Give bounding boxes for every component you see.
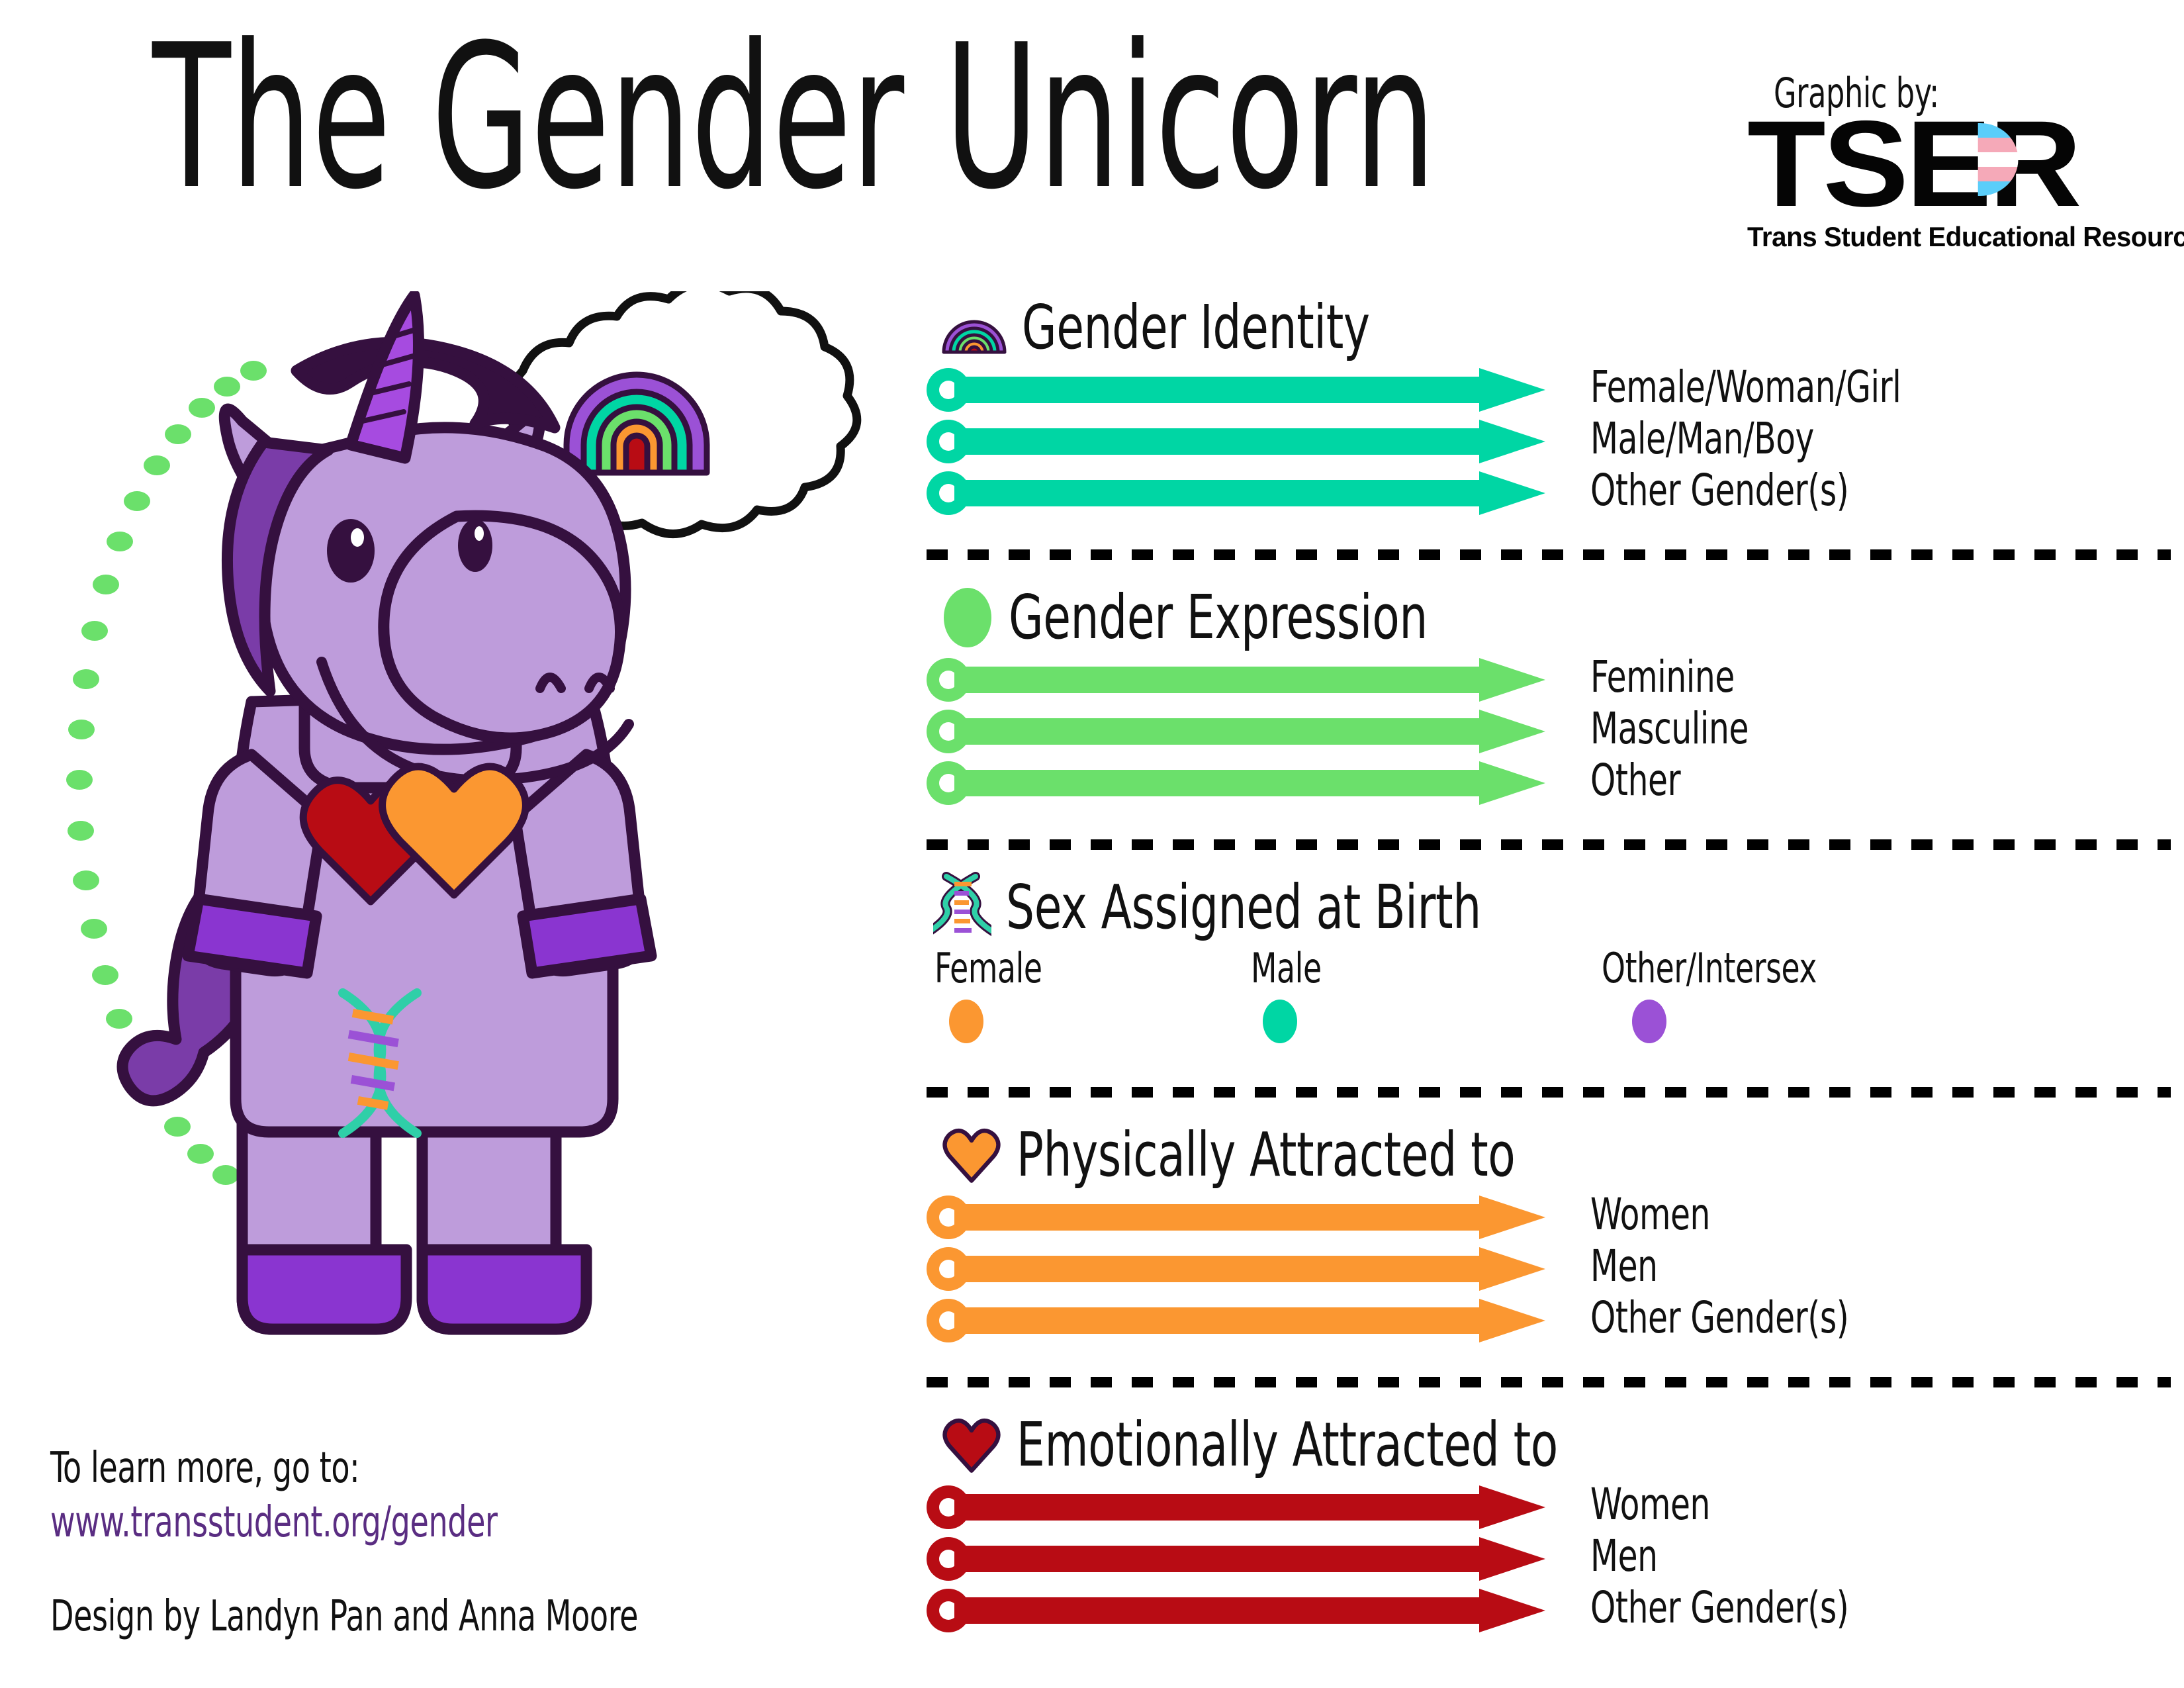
spectrum-arrowhead [1479,1485,1545,1529]
spectrum-row-label: Other Gender(s) [1590,1296,1848,1340]
section-title: Physically Attracted to [1017,1125,1515,1186]
spectrum-shaft [954,428,1479,455]
spectrum-row-label: Women [1590,1193,1710,1237]
spectrum-arrowhead [1479,1537,1545,1581]
tser-full-name: Trans Student Educational Resources [1747,221,2184,253]
sab-option-label: Female [934,948,1042,989]
gender-unicorn-infographic: The Gender Unicorn Graphic by: TSER Tran… [0,0,2184,1688]
spectrum-shaft [954,1494,1479,1521]
spectrum-arrowhead [1479,1299,1545,1342]
spectrum-arrowhead [1479,368,1545,412]
spectrum-arrowhead [1479,1196,1545,1239]
spectrum-row-label: Men [1590,1244,1658,1288]
spectrum-arrowhead [1479,420,1545,463]
dna-icon [933,871,991,944]
spectrum-arrow[interactable]: Other Gender(s) [927,1589,2171,1632]
spectrum-arrow[interactable]: Masculine [927,710,2171,753]
section-title: Gender Expression [1009,587,1428,648]
spectrum-row-label: Feminine [1590,655,1735,699]
spectrum-row-label: Women [1590,1483,1710,1526]
section-header-sex-assigned-at-birth: Sex Assigned at Birth [927,871,1585,944]
rainbow-icon [941,301,1007,355]
spectrum-shaft [954,1307,1479,1334]
sab-option-dot[interactable] [1263,1000,1297,1043]
design-credit: Design by Landyn Pan and Anna Moore [50,1595,638,1638]
section-title: Gender Identity [1022,297,1370,358]
spectrum-arrowhead [1479,761,1545,805]
spectrum-shaft [954,377,1479,403]
spectrum-shaft [954,770,1479,796]
spectrum-shaft [954,1256,1479,1282]
section-divider [927,549,2171,560]
spectrum-arrowhead [1479,710,1545,753]
gender-unicorn-character [86,291,867,1364]
spectrum-shaft [954,667,1479,693]
spectrum-arrow[interactable]: Women [927,1485,2171,1529]
section-header-physically-attracted-to: Physically Attracted to [927,1119,1625,1192]
spectrum-shaft [954,1204,1479,1231]
sab-option[interactable]: Other/Intersex [1602,948,1864,989]
spectrum-shaft [954,1546,1479,1572]
spectrum-shaft [954,718,1479,745]
transstudent-link[interactable]: www.transstudent.org/gender [50,1501,498,1544]
spectrum-shaft [954,1597,1479,1624]
tser-abbreviation: TSER [1747,111,2184,217]
tser-logo: TSER Trans Student Educational Resources [1747,111,2184,253]
spectrum-row-label: Men [1590,1534,1658,1578]
spectrum-arrow[interactable]: Men [927,1247,2171,1291]
spectrum-arrow[interactable]: Other Gender(s) [927,471,2171,515]
spectrum-shaft [954,480,1479,506]
spectrum-arrowhead [1479,471,1545,515]
spectrum-arrowhead [1479,658,1545,702]
green-circle-icon [941,586,994,649]
spectrum-arrow[interactable]: Other Gender(s) [927,1299,2171,1342]
spectrum-row-label: Male/Man/Boy [1590,417,1814,461]
spectrum-arrow[interactable]: Feminine [927,658,2171,702]
learn-more-label: To learn more, go to: [50,1447,359,1489]
section-divider [927,1087,2171,1098]
spectrum-row-label: Female/Woman/Girl [1590,365,1901,409]
red-heart-icon [941,1415,1002,1476]
sab-option-dot[interactable] [1632,1000,1666,1043]
sab-option-label: Other/Intersex [1602,948,1817,989]
spectrum-arrow[interactable]: Women [927,1196,2171,1239]
tser-abbreviation-text: TSER [1747,96,2079,232]
sab-option-label: Male [1251,948,1322,989]
section-title: Emotionally Attracted to [1017,1415,1558,1476]
spectrum-arrowhead [1479,1589,1545,1632]
orange-heart-icon [941,1125,1002,1186]
spectrum-row-label: Other Gender(s) [1590,1586,1848,1630]
spectrum-sections: Gender IdentityFemale/Woman/GirlMale/Man… [927,291,2171,1655]
spectrum-row-label: Other Gender(s) [1590,469,1848,512]
spectrum-row-label: Other [1590,759,1680,802]
spectrum-arrow[interactable]: Male/Man/Boy [927,420,2171,463]
sab-option[interactable]: Male [1251,948,1337,989]
spectrum-row-label: Masculine [1590,707,1749,751]
spectrum-arrowhead [1479,1247,1545,1291]
section-header-gender-expression: Gender Expression [927,581,1520,654]
section-header-gender-identity: Gender Identity [927,291,1446,364]
spectrum-arrow[interactable]: Other [927,761,2171,805]
spectrum-arrow[interactable]: Men [927,1537,2171,1581]
section-divider [927,839,2171,850]
page-title: The Gender Unicorn [152,19,1435,217]
sab-option-dot[interactable] [949,1000,983,1043]
section-title: Sex Assigned at Birth [1006,877,1481,938]
spectrum-arrow[interactable]: Female/Woman/Girl [927,368,2171,412]
section-header-emotionally-attracted-to: Emotionally Attracted to [927,1409,1676,1481]
sab-option[interactable]: Female [934,948,1066,989]
section-divider [927,1377,2171,1387]
